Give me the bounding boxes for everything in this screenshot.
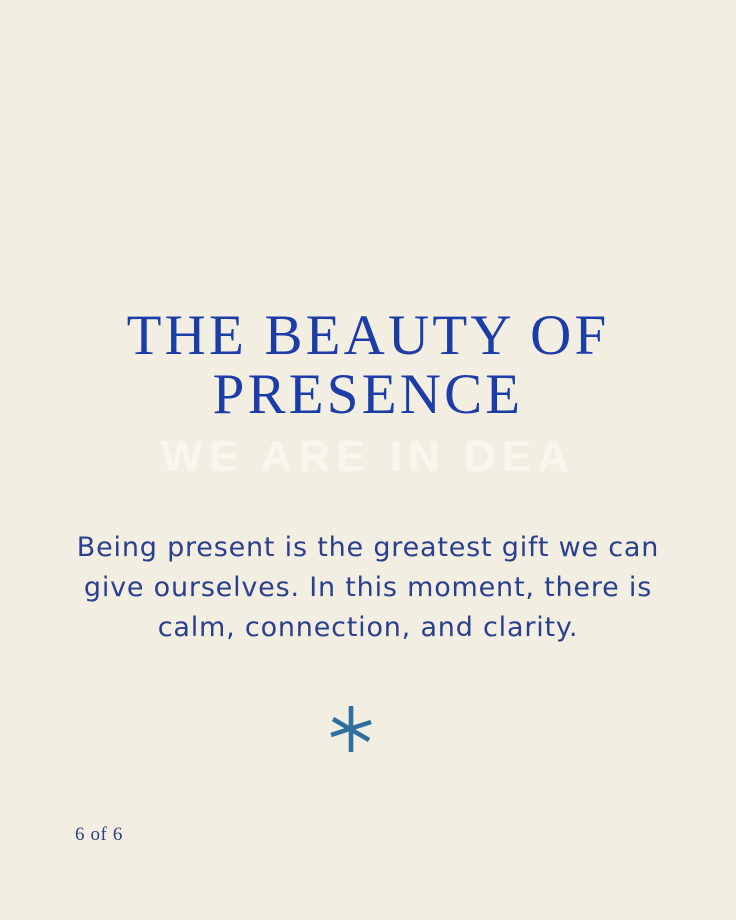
asterisk-star-icon (322, 700, 380, 758)
quote-slide: WE ARE IN DEA THE BEAUTY OF PRESENCE Bei… (0, 0, 736, 920)
body-line-2: give ourselves. In this moment, there is (44, 568, 692, 608)
body-line-1: Being present is the greatest gift we ca… (44, 528, 692, 568)
title-line-1: THE BEAUTY OF (0, 306, 736, 365)
body-paragraph: Being present is the greatest gift we ca… (44, 528, 692, 648)
body-line-3: calm, connection, and clarity. (44, 608, 692, 648)
page-counter: 6 of 6 (75, 824, 123, 846)
title-line-2: PRESENCE (0, 365, 736, 424)
page-title: THE BEAUTY OF PRESENCE (0, 306, 736, 424)
background-watermark: WE ARE IN DEA (0, 432, 736, 482)
